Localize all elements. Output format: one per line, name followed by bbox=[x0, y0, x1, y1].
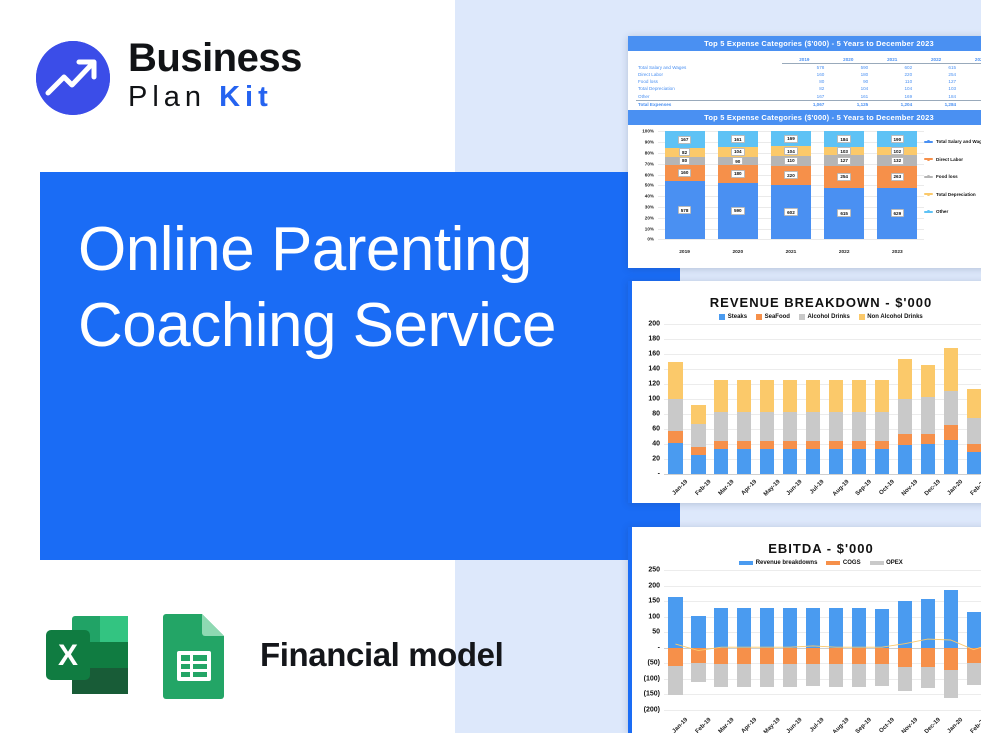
expense-categories-screenshot[interactable]: Top 5 Expense Categories ($'000) - 5 Yea… bbox=[628, 36, 981, 268]
bar-segment bbox=[783, 449, 797, 474]
axis-tick-label: Jun-19 bbox=[786, 717, 804, 733]
bar-segment bbox=[783, 441, 797, 449]
axis-tick-label: 70% bbox=[645, 161, 654, 166]
axis-tick-label: Oct-19 bbox=[878, 479, 895, 496]
chart1-x-axis: 20192020202120222023 bbox=[658, 250, 924, 255]
bar-segment bbox=[783, 412, 797, 441]
stacked-bar-segment: 220 bbox=[771, 166, 811, 186]
axis-tick-label: - bbox=[658, 644, 660, 651]
axis-tick-label: Aug-19 bbox=[832, 717, 851, 733]
stacked-bar-segment: 103 bbox=[824, 147, 864, 156]
bar-segment bbox=[783, 380, 797, 412]
bar-segment bbox=[668, 362, 682, 400]
legend-label: OPEX bbox=[886, 560, 903, 566]
axis-tick-label: 160 bbox=[648, 351, 660, 358]
legend-label: Revenue breakdowns bbox=[756, 560, 818, 566]
axis-tick-label: Feb-19 bbox=[694, 479, 712, 497]
bar-segment bbox=[760, 441, 774, 449]
legend-item: Other bbox=[924, 209, 981, 214]
axis-tick-label: 0% bbox=[647, 237, 654, 242]
axis-tick-label: Oct-19 bbox=[878, 717, 895, 733]
bar-segment bbox=[898, 399, 912, 434]
legend-label: Steaks bbox=[728, 314, 747, 320]
bar-group bbox=[893, 324, 916, 474]
legend-item: Total Salary and Wages bbox=[924, 139, 981, 144]
table-total-row: Total Expenses1,0671,1251,2041,2841,316 bbox=[636, 101, 981, 109]
table-total-label: Total Expenses bbox=[636, 101, 782, 109]
bar-segment bbox=[737, 441, 751, 449]
axis-tick-label: 40% bbox=[645, 194, 654, 199]
chart1-plot-area: 1678280160578161104901805901691041102206… bbox=[658, 131, 924, 239]
stacked-bar-segment: 180 bbox=[718, 165, 758, 182]
google-sheets-icon bbox=[160, 611, 228, 699]
data-label: 615 bbox=[837, 209, 851, 217]
table-cell: 615 bbox=[914, 64, 958, 72]
axis-tick-label: 100 bbox=[648, 396, 660, 403]
bar-segment bbox=[691, 405, 705, 424]
axis-tick-label: Jan-19 bbox=[672, 479, 690, 497]
axis-tick-label: 100 bbox=[648, 613, 660, 620]
stacked-bar-segment: 602 bbox=[771, 185, 811, 239]
table-cell: 184 bbox=[914, 93, 958, 101]
axis-tick-label: 180 bbox=[648, 336, 660, 343]
axis-tick-label: Aug-19 bbox=[832, 479, 851, 498]
legend-label: SeaFood bbox=[765, 314, 790, 320]
table-total-cell: 1,316 bbox=[958, 101, 981, 109]
axis-tick-label: Dec-19 bbox=[924, 479, 942, 497]
axis-tick-label: May-19 bbox=[763, 717, 782, 733]
data-label: 578 bbox=[678, 206, 692, 214]
ebitda-chart-legend: Revenue breakdownsCOGSOPEX bbox=[632, 560, 981, 568]
data-label: 127 bbox=[837, 157, 851, 165]
legend-label: Food loss bbox=[936, 174, 958, 179]
table-cell: 80 bbox=[782, 79, 826, 86]
revenue-plot-area bbox=[664, 324, 981, 474]
axis-tick-label: 2022 bbox=[839, 250, 850, 255]
bar-segment bbox=[967, 452, 981, 474]
table-cell: 180 bbox=[826, 71, 870, 78]
bar-group bbox=[779, 324, 802, 474]
table-cell: 590 bbox=[826, 64, 870, 72]
axis-tick-label: 80 bbox=[652, 411, 660, 418]
bar-segment bbox=[852, 441, 866, 449]
axis-tick-label: Feb-19 bbox=[694, 717, 712, 733]
axis-tick-label: Dec-19 bbox=[924, 717, 942, 733]
table-cell: 578 bbox=[782, 64, 826, 72]
stacked-bar-segment: 184 bbox=[824, 131, 864, 146]
ebitda-screenshot[interactable]: EBITDA - $'000 Revenue breakdownsCOGSOPE… bbox=[628, 527, 981, 733]
bar-segment bbox=[921, 444, 935, 474]
axis-tick-label: 10% bbox=[645, 226, 654, 231]
stacked-bar-segment: 82 bbox=[665, 148, 705, 156]
bar-segment bbox=[829, 380, 843, 412]
table-col-header: 2020 bbox=[826, 56, 870, 64]
table-cell: 161 bbox=[826, 93, 870, 101]
bar-segment bbox=[714, 380, 728, 412]
table-row: Direct Labor160180220254263 bbox=[636, 71, 981, 78]
axis-tick-label: (200) bbox=[644, 707, 660, 714]
axis-tick-label: 80% bbox=[645, 150, 654, 155]
axis-tick-label: (100) bbox=[644, 675, 660, 682]
table-row: Total Depreciation82104104103102 bbox=[636, 86, 981, 93]
expense-table-banner: Top 5 Expense Categories ($'000) - 5 Yea… bbox=[628, 36, 981, 51]
table-col-header: 2023 bbox=[958, 56, 981, 64]
table-row-label: Total Depreciation bbox=[636, 86, 782, 93]
ebitda-x-axis: Jan-19Feb-19Mar-19Apr-19May-19Jun-19Jul-… bbox=[664, 717, 981, 723]
expense-stacked-chart[interactable]: 100%90%80%70%60%50%40%30%20%10%0% 167828… bbox=[628, 125, 981, 257]
axis-tick-label: 2019 bbox=[679, 250, 690, 255]
data-label: 132 bbox=[891, 157, 905, 165]
data-label: 254 bbox=[837, 173, 851, 181]
table-total-cell: 1,284 bbox=[914, 101, 958, 109]
bar-group bbox=[916, 324, 939, 474]
axis-tick-label: 30% bbox=[645, 204, 654, 209]
bar-group bbox=[756, 324, 779, 474]
table-cell: 104 bbox=[826, 86, 870, 93]
legend-label: COGS bbox=[843, 560, 861, 566]
table-cell: 220 bbox=[870, 71, 914, 78]
table-col-header bbox=[636, 56, 782, 64]
table-total-cell: 1,067 bbox=[782, 101, 826, 109]
legend-item: Total Depreciation bbox=[924, 192, 981, 197]
data-label: 190 bbox=[891, 135, 905, 143]
table-row: Other167161169184190 bbox=[636, 93, 981, 101]
axis-tick-label: May-19 bbox=[763, 479, 782, 498]
table-row-label: Food loss bbox=[636, 79, 782, 86]
stacked-bar-segment: 590 bbox=[718, 183, 758, 240]
stacked-bar-segment: 110 bbox=[771, 156, 811, 166]
bar-segment bbox=[921, 365, 935, 397]
bar-segment bbox=[875, 449, 889, 474]
table-cell: 110 bbox=[870, 79, 914, 86]
stacked-bar-segment: 578 bbox=[665, 181, 705, 240]
bar-segment bbox=[668, 431, 682, 442]
axis-tick-label: Sep-19 bbox=[855, 717, 873, 733]
axis-tick-label: Jan-19 bbox=[672, 717, 690, 733]
chart1-legend: Total Salary and WagesDirect LaborFood l… bbox=[924, 139, 981, 227]
bar-segment bbox=[714, 441, 728, 449]
slide-canvas: Business Plan Kit Online Parenting Coach… bbox=[0, 0, 981, 733]
stacked-bar: 1678280160578 bbox=[665, 131, 705, 239]
axis-tick-label: 200 bbox=[648, 321, 660, 328]
axis-tick-label: 100% bbox=[642, 129, 654, 134]
bar-segment bbox=[852, 412, 866, 441]
stacked-bar-segment: 132 bbox=[877, 155, 917, 166]
revenue-chart-title: REVENUE BREAKDOWN - $'000 bbox=[632, 281, 981, 314]
bar-segment bbox=[921, 397, 935, 434]
svg-text:X: X bbox=[58, 639, 78, 672]
axis-tick-label: Apr-19 bbox=[740, 717, 758, 733]
expense-table: 20192020202120222023 Total Salary and Wa… bbox=[628, 51, 981, 110]
table-cell: 629 bbox=[958, 64, 981, 72]
bar-segment bbox=[921, 434, 935, 445]
data-label: 103 bbox=[837, 147, 851, 155]
data-label: 160 bbox=[678, 169, 692, 177]
data-label: 602 bbox=[784, 208, 798, 216]
stacked-bar: 169104110220602 bbox=[771, 131, 811, 239]
stacked-bar-segment: 190 bbox=[877, 131, 917, 147]
bar-segment bbox=[898, 359, 912, 399]
data-label: 80 bbox=[679, 157, 690, 165]
bar-segment bbox=[806, 412, 820, 441]
axis-tick-label: 20% bbox=[645, 215, 654, 220]
page-title: Online Parenting Coaching Service bbox=[78, 212, 638, 364]
data-label: 220 bbox=[784, 171, 798, 179]
data-label: 169 bbox=[784, 135, 798, 143]
table-cell: 82 bbox=[782, 86, 826, 93]
axis-tick-label: 120 bbox=[648, 381, 660, 388]
bar-segment bbox=[944, 391, 958, 425]
table-col-header: 2019 bbox=[782, 56, 826, 64]
growth-arrow-icon bbox=[36, 41, 110, 115]
legend-item: OPEX bbox=[870, 560, 903, 566]
bar-segment bbox=[737, 412, 751, 441]
stacked-bar: 16110490180590 bbox=[718, 131, 758, 239]
data-label: 263 bbox=[891, 173, 905, 181]
bar-segment bbox=[737, 380, 751, 412]
bar-segment bbox=[944, 440, 958, 475]
revenue-plot: 20018016014012010080604020- bbox=[632, 324, 981, 474]
axis-tick-label: 50 bbox=[652, 629, 660, 636]
axis-tick-label: 200 bbox=[648, 582, 660, 589]
axis-tick-label: 2021 bbox=[786, 250, 797, 255]
table-cell: 263 bbox=[958, 71, 981, 78]
stacked-bar-segment: 80 bbox=[665, 157, 705, 165]
legend-item: COGS bbox=[826, 560, 860, 566]
table-header-row: 20192020202120222023 bbox=[636, 56, 981, 64]
bar-segment bbox=[944, 348, 958, 391]
legend-label: Alcohol Drinks bbox=[807, 314, 849, 320]
brand-kit: Kit bbox=[219, 81, 273, 113]
stacked-bar-segment: 263 bbox=[877, 166, 917, 188]
table-cell: 104 bbox=[870, 86, 914, 93]
bar-group bbox=[848, 324, 871, 474]
axis-tick-label: Mar-19 bbox=[717, 479, 735, 497]
bar-segment bbox=[806, 380, 820, 412]
legend-label: Direct Labor bbox=[936, 157, 963, 162]
legend-item: Steaks bbox=[719, 314, 747, 320]
bar-segment bbox=[760, 380, 774, 412]
bar-group bbox=[825, 324, 848, 474]
table-cell: 103 bbox=[914, 86, 958, 93]
data-label: 102 bbox=[891, 147, 905, 155]
data-label: 110 bbox=[784, 157, 797, 165]
bar-segment bbox=[875, 412, 889, 441]
legend-item: Non Alcohol Drinks bbox=[859, 314, 923, 320]
table-cell: 190 bbox=[958, 93, 981, 101]
axis-tick-label: 150 bbox=[648, 598, 660, 605]
legend-label: Non Alcohol Drinks bbox=[867, 314, 922, 320]
axis-tick-label: Jun-19 bbox=[786, 479, 804, 497]
table-total-cell: 1,204 bbox=[870, 101, 914, 109]
bar-segment bbox=[967, 418, 981, 444]
microsoft-excel-icon: X bbox=[42, 608, 136, 702]
table-col-header: 2022 bbox=[914, 56, 958, 64]
bar-segment bbox=[967, 444, 981, 452]
axis-tick-label: Sep-19 bbox=[855, 479, 873, 497]
brand-line-business: Business bbox=[128, 36, 302, 80]
bar-segment bbox=[714, 449, 728, 474]
bar-segment bbox=[852, 449, 866, 474]
bar-group bbox=[687, 324, 710, 474]
ebitda-plot-area bbox=[664, 570, 981, 710]
axis-tick-label: 90% bbox=[645, 140, 654, 145]
bar-segment bbox=[967, 389, 981, 418]
bar-segment bbox=[691, 447, 705, 455]
axis-tick-label: 2023 bbox=[892, 250, 903, 255]
table-cell: 169 bbox=[870, 93, 914, 101]
bar-group bbox=[802, 324, 825, 474]
bar-group bbox=[733, 324, 756, 474]
legend-label: Other bbox=[936, 209, 948, 214]
bar-segment bbox=[668, 443, 682, 475]
bar-segment bbox=[829, 412, 843, 441]
bar-segment bbox=[806, 449, 820, 474]
stacked-bar-segment: 615 bbox=[824, 188, 864, 240]
legend-item: Food loss bbox=[924, 174, 981, 179]
stacked-bar-segment: 90 bbox=[718, 157, 758, 166]
legend-label: Total Salary and Wages bbox=[936, 139, 981, 144]
stacked-bar-segment: 127 bbox=[824, 155, 864, 166]
bar-segment bbox=[829, 449, 843, 474]
table-row-label: Direct Labor bbox=[636, 71, 782, 78]
bar-group bbox=[710, 324, 733, 474]
stacked-bar: 190102132263629 bbox=[877, 131, 917, 239]
table-row: Food loss8090110127132 bbox=[636, 79, 981, 86]
bar-segment bbox=[760, 412, 774, 441]
bar-segment bbox=[875, 380, 889, 412]
data-label: 104 bbox=[731, 148, 745, 156]
axis-tick-label: Feb-20 bbox=[970, 717, 981, 733]
bar-segment bbox=[806, 441, 820, 449]
axis-tick-label: 20 bbox=[652, 456, 660, 463]
table-row: Total Salary and Wages578590602615629 bbox=[636, 64, 981, 72]
axis-tick-label: 140 bbox=[648, 366, 660, 373]
axis-tick-label: (150) bbox=[644, 691, 660, 698]
stacked-bar-segment: 254 bbox=[824, 166, 864, 187]
data-label: 82 bbox=[679, 148, 690, 156]
financial-model-label: Financial model bbox=[260, 636, 503, 674]
axis-tick-label: 60% bbox=[645, 172, 654, 177]
brand-logo[interactable]: Business Plan Kit bbox=[36, 36, 336, 122]
table-cell: 90 bbox=[826, 79, 870, 86]
bar-segment bbox=[760, 449, 774, 474]
data-label: 180 bbox=[731, 170, 745, 178]
bar-group bbox=[664, 324, 687, 474]
brand-line-plan-kit: Plan Kit bbox=[128, 80, 302, 114]
legend-item: Revenue breakdowns bbox=[739, 560, 817, 566]
table-cell: 102 bbox=[958, 86, 981, 93]
ebitda-plot: 25020015010050-(50)(100)(150)(200) bbox=[632, 570, 981, 710]
stacked-bar-segment: 104 bbox=[771, 146, 811, 155]
bar-segment bbox=[737, 449, 751, 474]
table-cell: 167 bbox=[782, 93, 826, 101]
axis-tick-label: 250 bbox=[648, 567, 660, 574]
bar-segment bbox=[875, 441, 889, 449]
revenue-y-axis: 20018016014012010080604020- bbox=[632, 324, 662, 474]
ebitda-y-axis: 25020015010050-(50)(100)(150)(200) bbox=[632, 570, 662, 710]
stacked-bar: 184103127254615 bbox=[824, 131, 864, 239]
bar-segment bbox=[898, 445, 912, 474]
legend-item: Direct Labor bbox=[924, 157, 981, 162]
data-label: 590 bbox=[731, 207, 745, 215]
bar-group bbox=[939, 324, 962, 474]
bar-segment bbox=[898, 434, 912, 445]
table-col-header: 2021 bbox=[870, 56, 914, 64]
bar-group bbox=[962, 324, 981, 474]
data-label: 629 bbox=[891, 209, 905, 217]
format-badges: X Financial model bbox=[42, 608, 503, 702]
axis-tick-label: Jul-19 bbox=[810, 479, 827, 496]
legend-item: Alcohol Drinks bbox=[799, 314, 850, 320]
table-cell: 132 bbox=[958, 79, 981, 86]
revenue-chart-legend: SteaksSeaFoodAlcohol DrinksNon Alcohol D… bbox=[632, 314, 981, 322]
table-cell: 127 bbox=[914, 79, 958, 86]
stacked-bar-segment: 169 bbox=[771, 131, 811, 146]
stacked-bar-segment: 167 bbox=[665, 131, 705, 148]
legend-label: Total Depreciation bbox=[936, 192, 976, 197]
data-label: 167 bbox=[678, 136, 692, 144]
brand-wordmark: Business Plan Kit bbox=[128, 36, 302, 114]
table-row-label: Total Salary and Wages bbox=[636, 64, 782, 72]
data-label: 161 bbox=[731, 135, 745, 143]
chart1-y-axis: 100%90%80%70%60%50%40%30%20%10%0% bbox=[630, 131, 656, 239]
axis-tick-label: Nov-19 bbox=[901, 717, 919, 733]
bar-segment bbox=[691, 424, 705, 447]
bar-segment bbox=[852, 380, 866, 412]
table-cell: 602 bbox=[870, 64, 914, 72]
revenue-x-axis: Jan-19Feb-19Mar-19Apr-19May-19Jun-19Jul-… bbox=[664, 479, 981, 485]
data-label: 184 bbox=[837, 135, 851, 143]
axis-tick-label: - bbox=[658, 471, 660, 478]
data-label: 90 bbox=[732, 157, 743, 165]
table-row-label: Other bbox=[636, 93, 782, 101]
bar-segment bbox=[829, 441, 843, 449]
bar-group bbox=[870, 324, 893, 474]
axis-tick-label: Mar-19 bbox=[717, 717, 735, 733]
brand-plan: Plan bbox=[128, 81, 206, 113]
axis-tick-label: 50% bbox=[645, 183, 654, 188]
axis-tick-label: 60 bbox=[652, 426, 660, 433]
stacked-bar-segment: 629 bbox=[877, 188, 917, 240]
stacked-bar-segment: 160 bbox=[665, 165, 705, 181]
revenue-breakdown-screenshot[interactable]: REVENUE BREAKDOWN - $'000 SteaksSeaFoodA… bbox=[628, 281, 981, 503]
bar-segment bbox=[944, 425, 958, 440]
stacked-bar-segment: 104 bbox=[718, 147, 758, 157]
expense-chart-banner: Top 5 Expense Categories ($'000) - 5 Yea… bbox=[628, 110, 981, 125]
axis-tick-label: Feb-20 bbox=[970, 479, 981, 497]
bar-segment bbox=[714, 412, 728, 441]
bar-segment bbox=[691, 455, 705, 475]
axis-tick-label: Nov-19 bbox=[901, 479, 919, 497]
axis-tick-label: Jan-20 bbox=[947, 479, 965, 497]
axis-tick-label: (50) bbox=[648, 660, 660, 667]
table-cell: 254 bbox=[914, 71, 958, 78]
table-total-cell: 1,125 bbox=[826, 101, 870, 109]
axis-tick-label: Apr-19 bbox=[740, 479, 758, 497]
bar-segment bbox=[668, 399, 682, 431]
table-cell: 160 bbox=[782, 71, 826, 78]
legend-item: SeaFood bbox=[756, 314, 790, 320]
data-label: 104 bbox=[784, 147, 798, 155]
axis-tick-label: Jan-20 bbox=[947, 717, 965, 733]
stacked-bar-segment: 161 bbox=[718, 131, 758, 146]
stacked-bar-segment: 102 bbox=[877, 147, 917, 155]
ebitda-chart-title: EBITDA - $'000 bbox=[632, 527, 981, 560]
axis-tick-label: 2020 bbox=[732, 250, 743, 255]
axis-tick-label: 40 bbox=[652, 441, 660, 448]
ebitda-trend-line bbox=[664, 570, 981, 710]
